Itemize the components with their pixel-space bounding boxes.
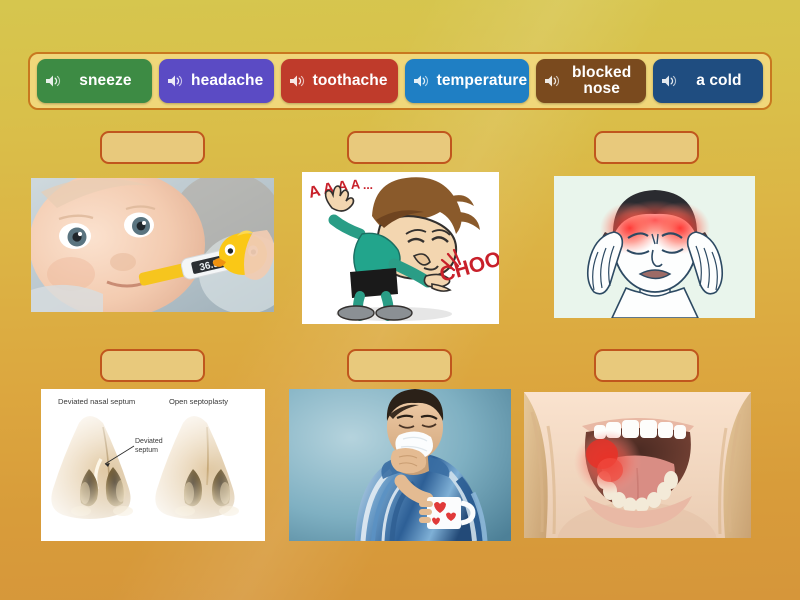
nasal-septum-diagram[interactable]: Deviated nasal septum Open septoplasty D… xyxy=(41,389,265,541)
diagram-annotation-line2: septum xyxy=(135,447,158,454)
drop-zone-4[interactable] xyxy=(100,349,205,382)
drop-zone-1[interactable] xyxy=(100,131,205,164)
word-card-blocked-nose[interactable]: blocked nose xyxy=(536,59,646,103)
drop-zone-3[interactable] xyxy=(594,131,699,164)
speaker-icon[interactable] xyxy=(411,71,431,91)
speaker-icon[interactable] xyxy=(287,71,307,91)
diagram-label-right: Open septoplasty xyxy=(169,397,228,406)
word-card-temperature[interactable]: temperature xyxy=(405,59,529,103)
word-card-toothache[interactable]: toothache xyxy=(281,59,398,103)
speaker-icon[interactable] xyxy=(165,71,185,91)
word-card-label: blocked nose xyxy=(564,65,640,98)
svg-text:A: A xyxy=(350,176,361,192)
word-bank: sneeze headache toothache temperature bl… xyxy=(28,52,772,110)
drop-zone-2[interactable] xyxy=(347,131,452,164)
word-card-label: sneeze xyxy=(65,73,146,89)
speaker-icon[interactable] xyxy=(542,71,562,91)
speaker-icon[interactable] xyxy=(43,71,63,91)
headache-illustration[interactable] xyxy=(554,176,755,318)
diagram-annotation-line1: Deviated xyxy=(135,438,163,445)
open-mouth-toothache-photo[interactable] xyxy=(524,392,751,538)
diagram-label-left: Deviated nasal septum xyxy=(58,397,135,406)
word-card-sneeze[interactable]: sneeze xyxy=(37,59,152,103)
word-card-headache[interactable]: headache xyxy=(159,59,274,103)
word-card-a-cold[interactable]: a cold xyxy=(653,59,763,103)
drop-zone-5[interactable] xyxy=(347,349,452,382)
svg-text:...: ... xyxy=(363,178,373,192)
word-card-label: headache xyxy=(187,73,268,89)
baby-thermometer-photo[interactable]: 36.5 xyxy=(31,178,274,312)
speaker-icon[interactable] xyxy=(659,71,679,91)
word-card-label: a cold xyxy=(681,73,757,89)
drop-zone-6[interactable] xyxy=(594,349,699,382)
word-card-label: temperature xyxy=(433,73,532,89)
sneezing-cartoon[interactable]: A A A A ... xyxy=(302,172,499,324)
man-with-cold-photo[interactable] xyxy=(289,389,511,541)
word-card-label: toothache xyxy=(309,73,392,89)
